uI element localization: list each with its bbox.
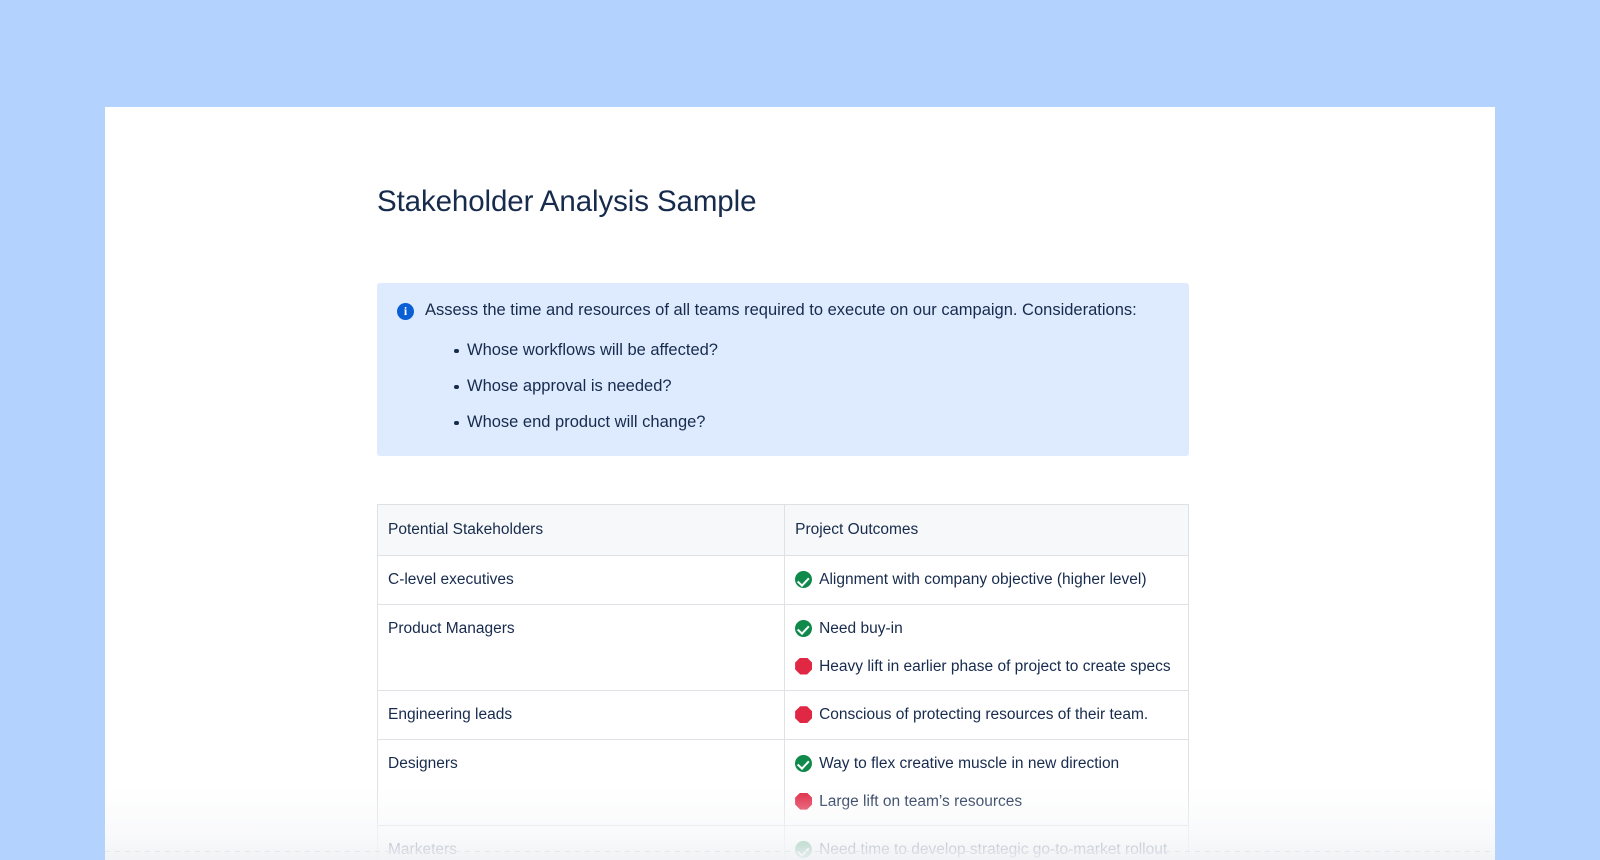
document-page: Stakeholder Analysis Sample i Assess the… (105, 107, 1495, 860)
info-callout: i Assess the time and resources of all t… (377, 283, 1189, 457)
outcome-item: Way to flex creative muscle in new direc… (795, 753, 1178, 775)
outcome-text: Conscious of protecting resources of the… (819, 704, 1178, 726)
outcome-text: Need time to develop strategic go-to-mar… (819, 839, 1178, 860)
table-header-row: Potential Stakeholders Project Outcomes (378, 505, 1189, 556)
outcomes-cell: Need buy-in Heavy lift in earlier phase … (785, 604, 1189, 690)
stakeholder-analysis-table: Potential Stakeholders Project Outcomes … (377, 504, 1189, 860)
outcome-item: Need time to develop strategic go-to-mar… (795, 839, 1178, 860)
callout-body: Assess the time and resources of all tea… (425, 299, 1169, 435)
stakeholder-cell: Engineering leads (378, 691, 785, 740)
outcomes-cell: Conscious of protecting resources of the… (785, 691, 1189, 740)
stakeholder-cell: Marketers (378, 826, 785, 860)
outcome-text: Alignment with company objective (higher… (819, 569, 1178, 591)
outcome-item: Large lift on team’s resources (795, 791, 1178, 813)
outcome-item: Heavy lift in earlier phase of project t… (795, 656, 1178, 678)
outcome-text: Need buy-in (819, 618, 1178, 640)
table-row: C-level executives Alignment with compan… (378, 556, 1189, 605)
list-item: Whose workflows will be affected? (425, 339, 1169, 363)
callout-lead-text: Assess the time and resources of all tea… (425, 299, 1169, 323)
outcome-text: Way to flex creative muscle in new direc… (819, 753, 1178, 775)
stakeholder-cell: Designers (378, 739, 785, 825)
table-row: Marketers Need time to develop strategic… (378, 826, 1189, 860)
stop-sign-icon (795, 658, 812, 675)
list-item: Whose approval is needed? (425, 375, 1169, 399)
outcome-item: Alignment with company objective (higher… (795, 569, 1178, 591)
outcome-item: Conscious of protecting resources of the… (795, 704, 1178, 726)
page-title: Stakeholder Analysis Sample (377, 183, 1189, 221)
callout-bullet-list: Whose workflows will be affected? Whose … (425, 339, 1169, 435)
outcomes-cell: Alignment with company objective (higher… (785, 556, 1189, 605)
outcomes-cell: Need time to develop strategic go-to-mar… (785, 826, 1189, 860)
check-circle-icon (795, 755, 812, 772)
stop-sign-icon (795, 706, 812, 723)
table-row: Product Managers Need buy-in Heavy lift … (378, 604, 1189, 690)
check-circle-icon (795, 571, 812, 588)
stakeholder-cell: Product Managers (378, 604, 785, 690)
list-item: Whose end product will change? (425, 411, 1169, 435)
table-row: Engineering leads Conscious of protectin… (378, 691, 1189, 740)
outcome-text: Large lift on team’s resources (819, 791, 1178, 813)
document-content: Stakeholder Analysis Sample i Assess the… (377, 107, 1189, 860)
column-header-outcomes: Project Outcomes (785, 505, 1189, 556)
check-circle-icon (795, 841, 812, 858)
info-icon: i (397, 303, 414, 320)
stop-sign-icon (795, 793, 812, 810)
check-circle-icon (795, 620, 812, 637)
column-header-stakeholders: Potential Stakeholders (378, 505, 785, 556)
table-row: Designers Way to flex creative muscle in… (378, 739, 1189, 825)
outcome-text: Heavy lift in earlier phase of project t… (819, 656, 1178, 678)
outcomes-cell: Way to flex creative muscle in new direc… (785, 739, 1189, 825)
stakeholder-cell: C-level executives (378, 556, 785, 605)
outcome-item: Need buy-in (795, 618, 1178, 640)
